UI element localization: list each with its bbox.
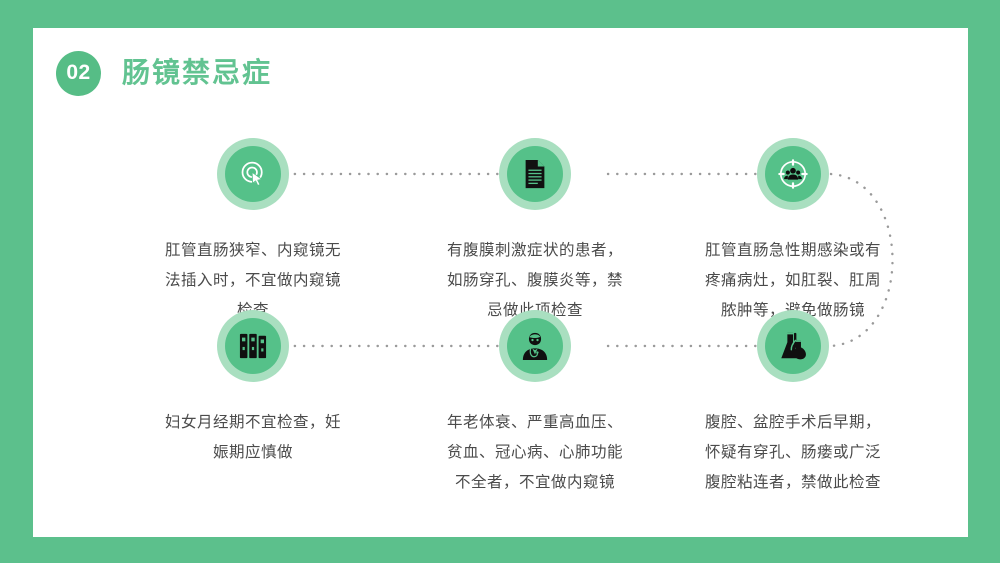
icon-bubble-1[interactable] — [217, 138, 289, 210]
item-node-2[interactable]: 有腹膜刺激症状的患者， 如肠穿孔、腹膜炎等，禁 忌做此项检查 — [395, 138, 675, 326]
bubble-inner-disc — [225, 146, 281, 202]
slide-panel: 02 肠镜禁忌症 — [33, 28, 968, 537]
crosshair-people-icon — [778, 159, 808, 189]
doctor-icon — [521, 331, 549, 361]
lab-flask-icon — [778, 331, 808, 361]
icon-bubble-3[interactable] — [757, 138, 829, 210]
item-node-6[interactable]: 腹腔、盆腔手术后早期， 怀疑有穿孔、肠瘘或广泛 腹腔粘连者，禁做此检查 — [653, 310, 933, 498]
icon-bubble-2[interactable] — [499, 138, 571, 210]
item-text-5: 年老体衰、严重高血压、 贫血、冠心病、心肺功能 不全者，不宜做内窥镜 — [395, 408, 675, 498]
target-cursor-icon — [239, 160, 267, 188]
bubble-inner-disc — [765, 146, 821, 202]
page-title: 肠镜禁忌症 — [122, 59, 272, 87]
item-text-6: 腹腔、盆腔手术后早期， 怀疑有穿孔、肠瘘或广泛 腹腔粘连者，禁做此检查 — [653, 408, 933, 498]
binders-icon — [238, 332, 268, 360]
icon-bubble-4[interactable] — [217, 310, 289, 382]
item-node-4[interactable]: 妇女月经期不宜检查，妊 娠期应慎做 — [113, 310, 393, 468]
slide-root: 02 肠镜禁忌症 — [0, 0, 1000, 563]
item-node-3[interactable]: 肛管直肠急性期感染或有 疼痛病灶，如肛裂、肛周 脓肿等，避免做肠镜 — [653, 138, 933, 326]
item-node-5[interactable]: 年老体衰、严重高血压、 贫血、冠心病、心肺功能 不全者，不宜做内窥镜 — [395, 310, 675, 498]
slide-header: 02 肠镜禁忌症 — [56, 49, 272, 97]
icon-bubble-5[interactable] — [499, 310, 571, 382]
section-number-badge: 02 — [56, 51, 101, 96]
bubble-inner-disc — [507, 318, 563, 374]
bubble-inner-disc — [507, 146, 563, 202]
bubble-inner-disc — [765, 318, 821, 374]
document-icon — [522, 159, 548, 189]
icon-bubble-6[interactable] — [757, 310, 829, 382]
bubble-inner-disc — [225, 318, 281, 374]
item-text-4: 妇女月经期不宜检查，妊 娠期应慎做 — [113, 408, 393, 468]
item-node-1[interactable]: 肛管直肠狭窄、内窥镜无 法插入时，不宜做内窥镜 检查 — [113, 138, 393, 326]
